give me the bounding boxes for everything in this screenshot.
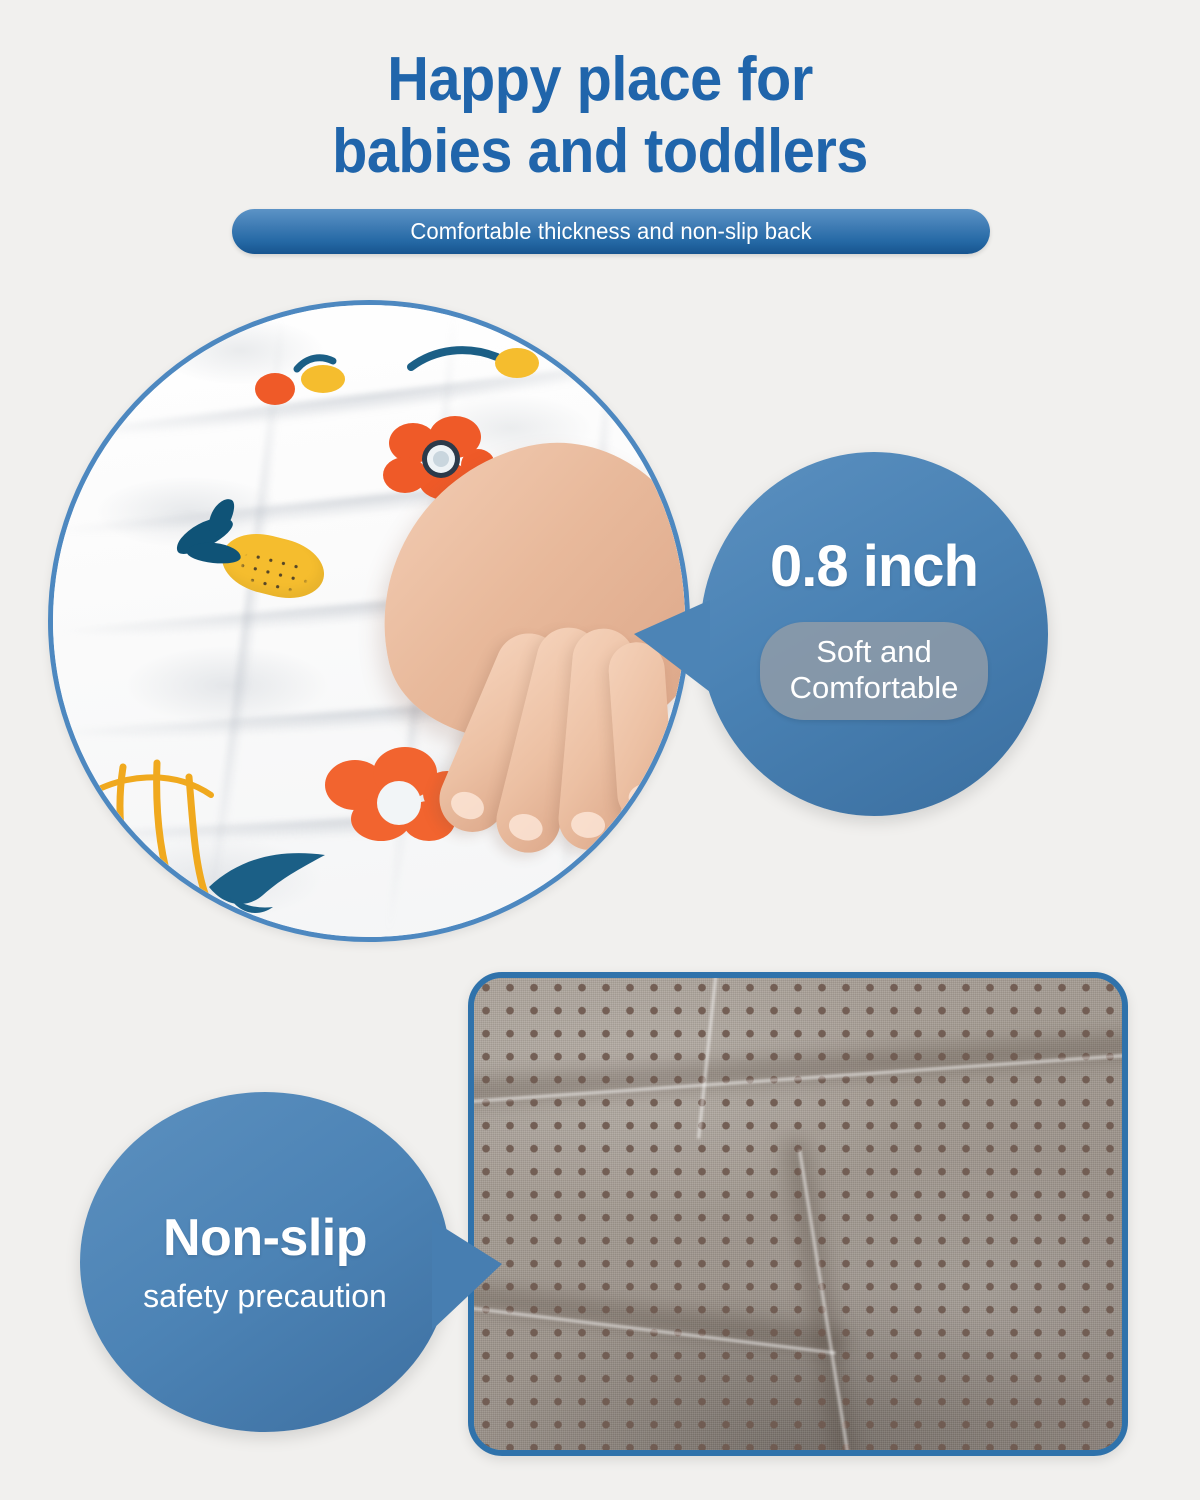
leaf-motif-icon	[203, 835, 333, 930]
bubble-tail	[432, 1220, 502, 1330]
thickness-callout-bubble: 0.8 inch Soft and Comfortable	[700, 452, 1048, 816]
thickness-metric: 0.8 inch	[770, 538, 978, 596]
marketing-banner: Happy place for babies and toddlers Comf…	[0, 0, 1200, 1500]
nonslip-subtitle: safety precaution	[143, 1280, 387, 1312]
nonslip-callout-bubble: Non-slip safety precaution	[80, 1092, 450, 1432]
bubble-tail	[634, 600, 710, 692]
subtitle-pill: Comfortable thickness and non-slip back	[232, 209, 990, 254]
bottom-product-photo	[468, 972, 1128, 1456]
subtitle-text: Comfortable thickness and non-slip back	[410, 218, 811, 245]
nonslip-title: Non-slip	[163, 1212, 367, 1264]
silicone-dot-grid	[474, 978, 1122, 1450]
fruit-motif-icon	[405, 333, 545, 398]
page-title: Happy place for babies and toddlers	[42, 44, 1158, 188]
top-product-photo	[48, 300, 690, 942]
thickness-pill-label: Soft and Comfortable	[760, 622, 989, 720]
fruit-motif-icon	[249, 349, 369, 424]
